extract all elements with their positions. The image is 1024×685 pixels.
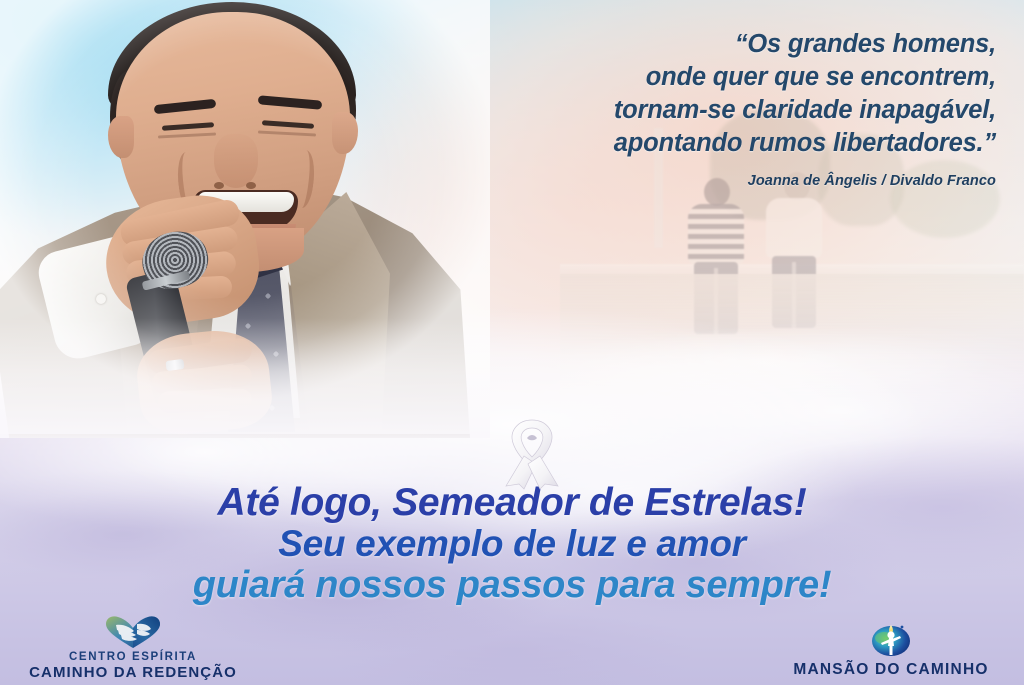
globe-figure-flame-icon xyxy=(867,615,915,659)
white-ribbon-icon xyxy=(497,412,567,490)
memorial-poster: “Os grandes homens, onde quer que se enc… xyxy=(0,0,1024,685)
message-line-3: guiará nossos passos para sempre! xyxy=(0,564,1024,606)
quote-line-4: apontando rumos libertadores.” xyxy=(436,127,996,160)
logo-left-line1: CENTRO ESPÍRITA xyxy=(8,651,258,664)
nostril-right xyxy=(246,182,256,189)
quote-attribution: Joanna de Ângelis / Divaldo Franco xyxy=(436,173,996,189)
memorial-message: Até logo, Semeador de Estrelas! Seu exem… xyxy=(0,482,1024,606)
quote-line-1: “Os grandes homens, xyxy=(436,28,996,61)
nose xyxy=(214,134,258,188)
hands-heart-icon xyxy=(103,615,163,649)
finger xyxy=(158,388,253,413)
message-line-2: Seu exemplo de luz e amor xyxy=(0,524,1024,564)
ear-right xyxy=(332,112,358,154)
quote-line-3: tornam-se claridade inapagável, xyxy=(436,94,996,127)
logo-left-line2: CAMINHO DA REDENÇÃO xyxy=(8,664,258,681)
ear-left xyxy=(108,116,134,158)
cuff-button xyxy=(96,294,106,304)
ribbon-knot-shadow xyxy=(527,435,537,440)
mourning-ribbon xyxy=(497,412,567,490)
nostril-left xyxy=(214,182,224,189)
logo-right-line1: MANSÃO DO CAMINHO xyxy=(766,661,1016,679)
portrait-divaldo-franco xyxy=(0,0,490,434)
logo-centro-espirita: CENTRO ESPÍRITA CAMINHO DA REDENÇÃO xyxy=(8,615,258,681)
quote-block: “Os grandes homens, onde quer que se enc… xyxy=(436,28,996,189)
quote-line-2: onde quer que se encontrem, xyxy=(436,61,996,94)
logo-mansao-do-caminho: MANSÃO DO CAMINHO xyxy=(766,615,1016,679)
